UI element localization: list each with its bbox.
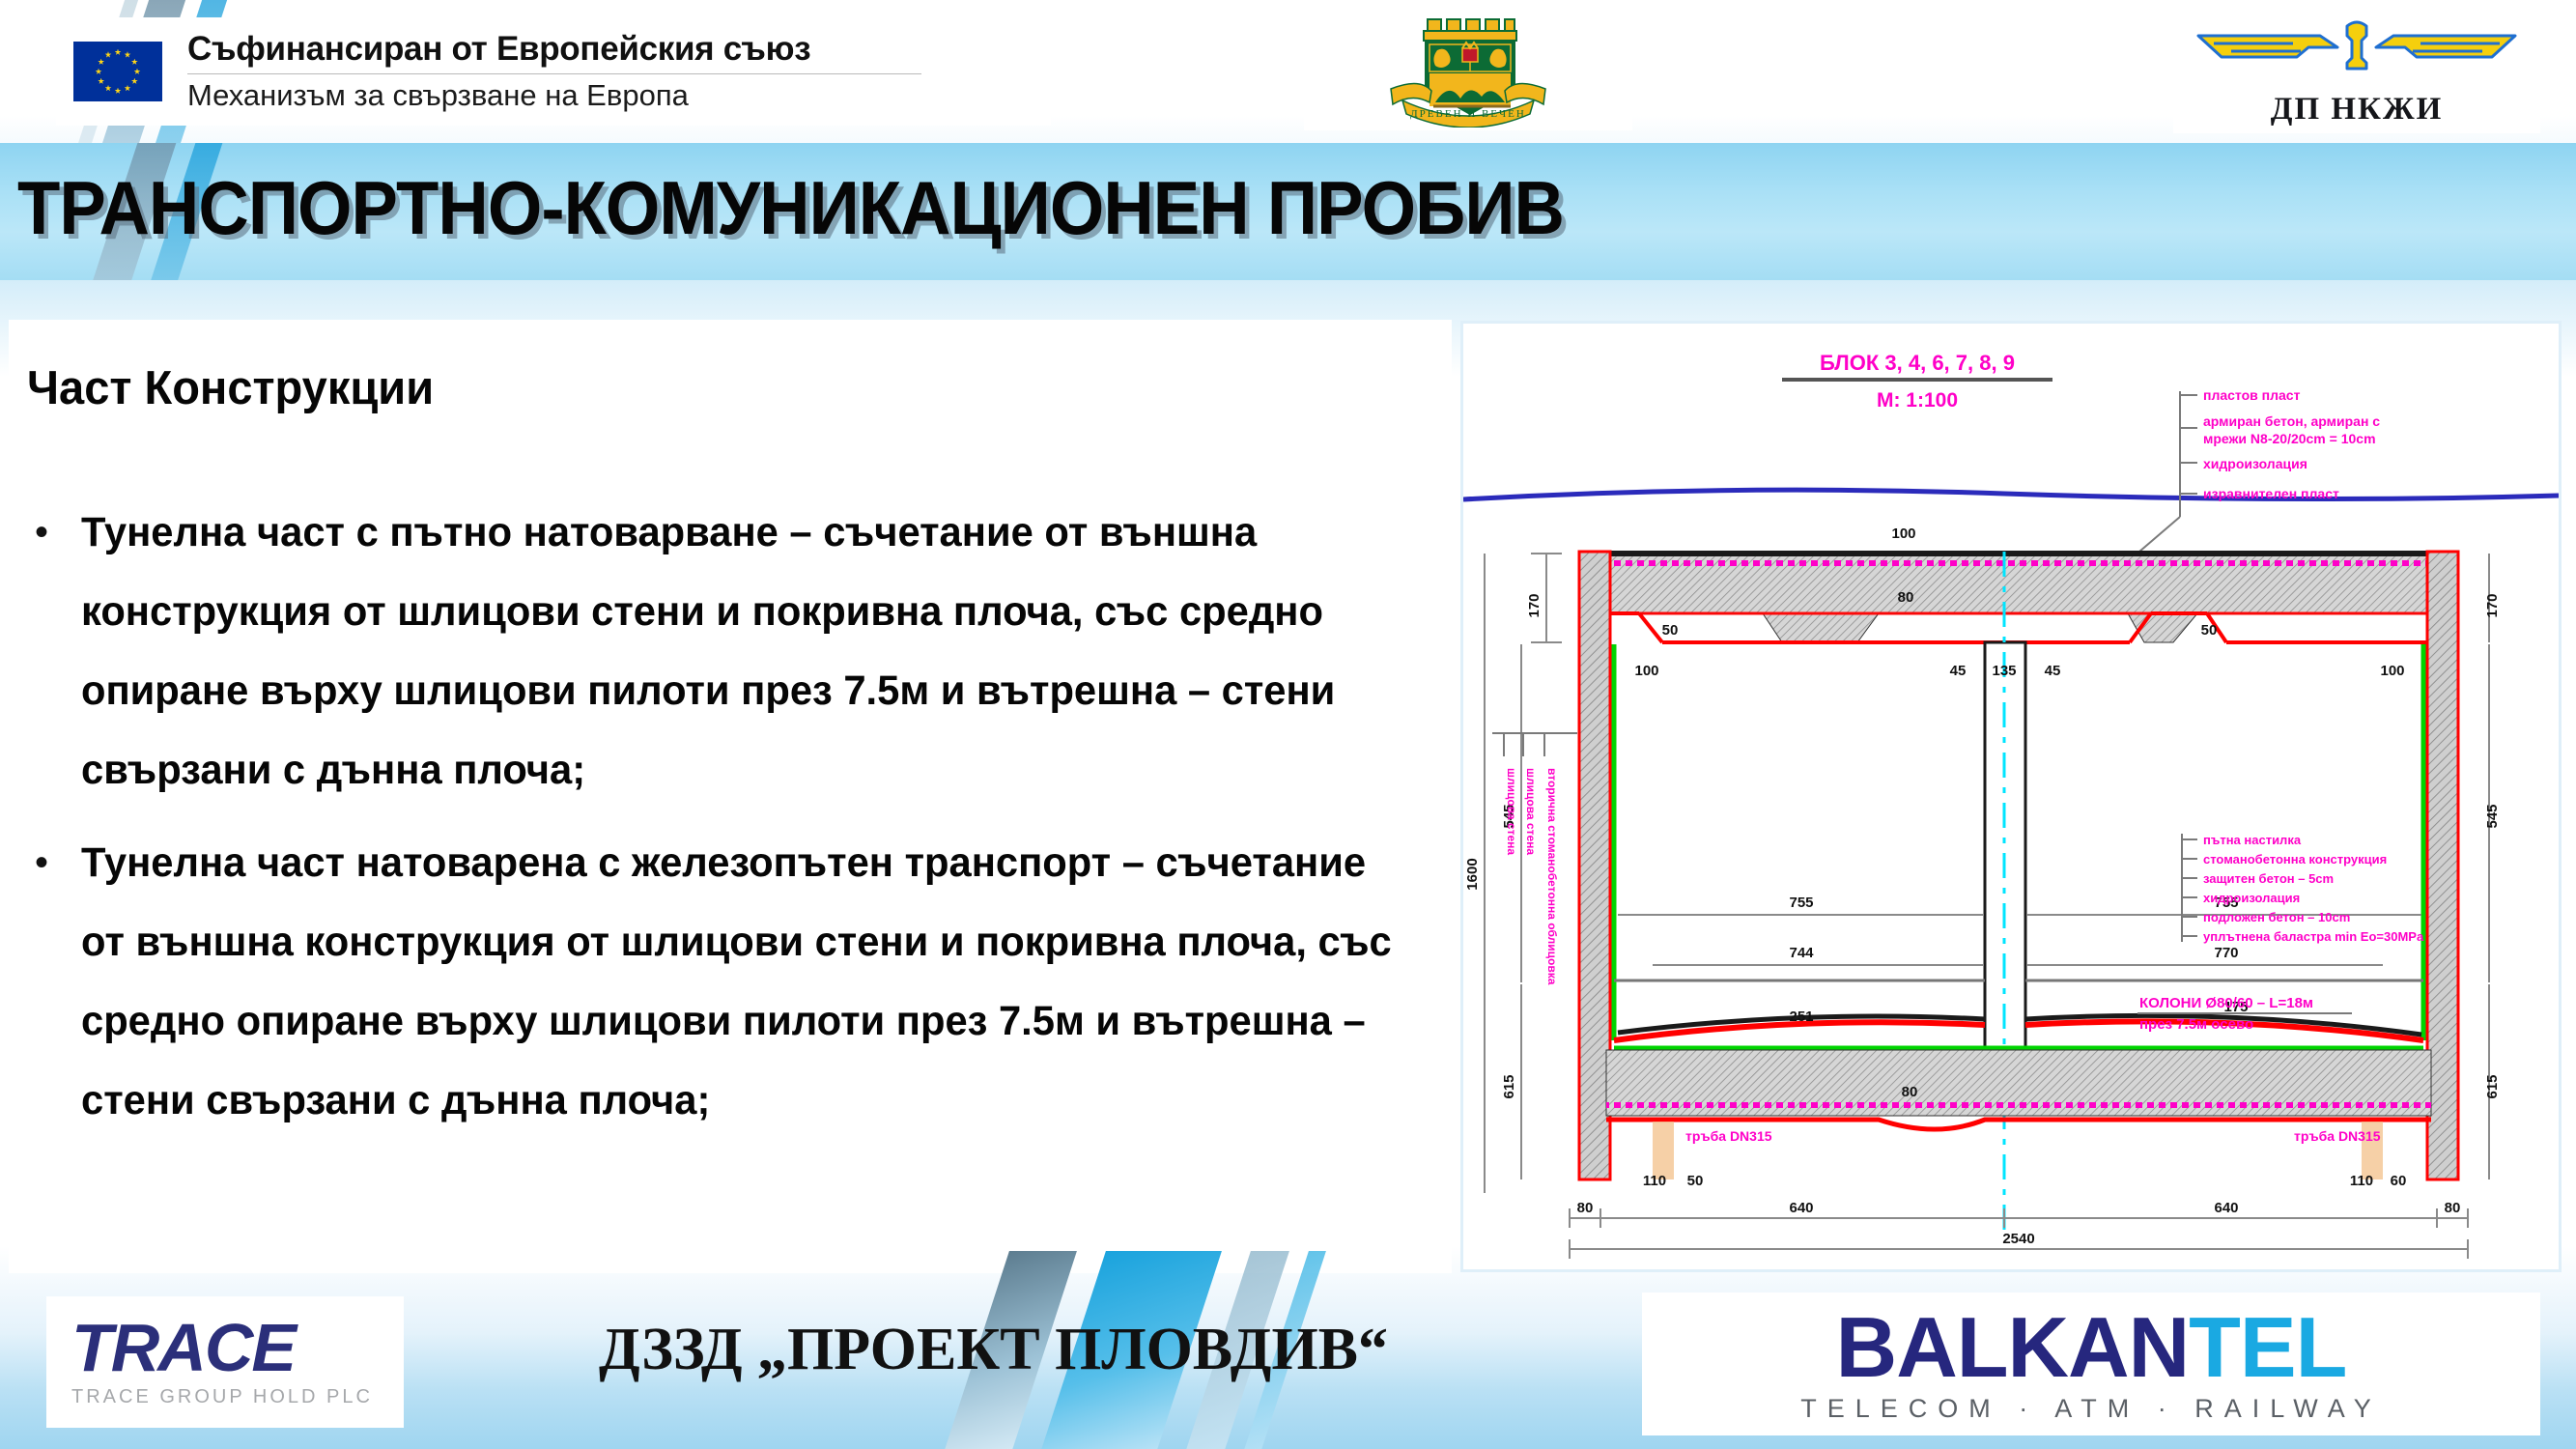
- section-heading: Част Конструкции: [27, 361, 434, 415]
- drawing-title-group: БЛОК 3, 4, 6, 7, 8, 9 М: 1:100: [1782, 351, 2052, 412]
- note-top-1: армиран бетон, армиран с: [2203, 413, 2380, 429]
- dim-pier-off-right: 45: [2045, 663, 2061, 679]
- eu-line-2: Механизъм за свързване на Европа: [187, 78, 921, 113]
- eu-star-icon: [125, 85, 131, 92]
- eu-funding-logo: Съфинансиран от Европейския съюз Механиз…: [56, 17, 1051, 126]
- diaphragm-wall-left: [1579, 552, 1610, 1179]
- dim-slab-thk-b: 100: [1891, 526, 1915, 542]
- bullet-marker-icon: •: [27, 823, 81, 902]
- bullet-marker-icon: •: [27, 493, 81, 572]
- page-title: ТРАНСПОРТНО-КОМУНИКАЦИОНЕН ПРОБИВ: [17, 164, 1564, 252]
- dim-lower-right-h: 615: [2484, 1074, 2501, 1098]
- eu-star-icon: [98, 78, 104, 85]
- footer-logo-band: TRACE TRACE GROUP HOLD PLC ДЗЗД „ПРОЕКТ …: [0, 1285, 2576, 1449]
- drawing-notes-bottom: пътна настилка стоманобетонна конструкци…: [2182, 833, 2424, 944]
- balkantel-wordmark: BALKANTEL: [1836, 1305, 2347, 1390]
- eu-star-icon: [125, 51, 131, 58]
- dim-pier-off-left: 45: [1950, 663, 1967, 679]
- dim-top-right-h: 170: [2484, 593, 2501, 617]
- dimension-lines: 170 545 615 1600 170 545 615: [1464, 526, 2501, 1259]
- note-bottom-2: защитен бетон – 5cm: [2203, 871, 2334, 886]
- dim-edge-left: 80: [1577, 1200, 1594, 1216]
- dim-bay-right: 640: [2214, 1200, 2238, 1216]
- dim-deck-left: 251: [1789, 1009, 1813, 1025]
- balkantel-tagline: TELECOM · ATM · RAILWAY: [1800, 1394, 2382, 1424]
- eu-star-icon: [115, 88, 122, 95]
- dim-pier-w: 135: [1992, 663, 2016, 679]
- nkzhi-label: ДП НКЖИ: [2271, 92, 2444, 128]
- header-logo-band: Съфинансиран от Европейския съюз Механиз…: [0, 0, 2576, 147]
- drawing-title: БЛОК 3, 4, 6, 7, 8, 9: [1820, 351, 2015, 375]
- dim-total-depth: 1600: [1464, 858, 1481, 890]
- dim-small-a: 50: [1687, 1173, 1704, 1189]
- balkantel-word-part-2: TEL: [2189, 1299, 2346, 1395]
- eu-divider: [187, 73, 921, 74]
- content-panel: Част Конструкции • Тунелна част с пътно …: [10, 321, 1451, 1272]
- balkantel-word-part-1: BALKAN: [1836, 1299, 2190, 1395]
- pipe-label-left: тръба DN315: [1685, 1128, 1772, 1144]
- eu-star-icon: [105, 85, 112, 92]
- plovdiv-coat-of-arms: ДРЕВЕН И ВЕЧЕН: [1304, 10, 1632, 130]
- dim-slab-thk-a: 80: [1898, 589, 1914, 606]
- roof-soffit-line: [1610, 613, 2427, 642]
- dim-base-right: 110: [2350, 1173, 2373, 1189]
- note-bottom-5: уплътнена баластра min Eo=30MPa: [2203, 929, 2424, 944]
- note-bottom-3: хидроизолация: [2203, 891, 2300, 905]
- eu-star-icon: [115, 49, 122, 56]
- bullet-text: Тунелна част натоварена с железопътен тр…: [81, 823, 1397, 1140]
- coat-of-arms-motto: ДРЕВЕН И ВЕЧЕН: [1410, 108, 1526, 120]
- nkzhi-logo: ДП НКЖИ: [2173, 8, 2540, 133]
- bullet-list: • Тунелна част с пътно натоварване – съч…: [27, 493, 1437, 1153]
- dim-small-b: 60: [2391, 1173, 2407, 1189]
- winged-rail-icon: [2193, 14, 2521, 90]
- note-bottom-0: пътна настилка: [2203, 833, 2302, 847]
- dim-clear-left: 755: [1789, 895, 1813, 911]
- dim-haunch-left: 50: [1662, 622, 1679, 639]
- dim-overall-width: 2540: [2002, 1231, 2034, 1247]
- left-note-0: шлицова стена: [1505, 768, 1518, 855]
- dim-col-left: 100: [1634, 663, 1658, 679]
- title-banner: ТРАНСПОРТНО-КОМУНИКАЦИОНЕН ПРОБИВ: [0, 143, 2576, 280]
- terrain-line: [1463, 490, 2559, 499]
- trace-tagline: TRACE GROUP HOLD PLC: [71, 1386, 404, 1408]
- eu-star-icon: [131, 78, 138, 85]
- dim-lower-left-h: 615: [1501, 1074, 1517, 1098]
- trace-wordmark: TRACE: [71, 1316, 404, 1380]
- list-item: • Тунелна част с пътно натоварване – съч…: [27, 493, 1437, 810]
- left-note-2: вторична стоманобетонна облицовка: [1545, 768, 1559, 985]
- waterproofing-layer-top: [1606, 560, 2431, 566]
- coat-of-arms-icon: ДРЕВЕН И ВЕЧЕН: [1381, 14, 1555, 128]
- dim-small-d: 80: [1902, 1084, 1918, 1100]
- eu-star-icon: [98, 59, 104, 66]
- left-note-1: шлицова стена: [1524, 768, 1538, 855]
- eu-star-icon: [96, 69, 102, 75]
- eu-star-icon: [134, 69, 141, 75]
- pile-note-line-1: КОЛОНИ Ø80/60 – L=18м: [2139, 995, 2313, 1011]
- dim-col-right: 100: [2380, 663, 2404, 679]
- pipe-label-right: тръба DN315: [2294, 1128, 2381, 1144]
- eu-line-1: Съфинансиран от Европейския съюз: [187, 30, 921, 69]
- trace-logo: TRACE TRACE GROUP HOLD PLC: [46, 1296, 404, 1428]
- balkantel-logo: BALKANTEL TELECOM · ATM · RAILWAY: [1642, 1293, 2540, 1435]
- dim-base-left: 110: [1643, 1173, 1666, 1189]
- note-bottom-4: подложен бетон – 10cm: [2203, 910, 2350, 924]
- dim-bay-left: 640: [1789, 1200, 1813, 1216]
- dim-inner-left: 744: [1789, 945, 1814, 961]
- bullet-text: Тунелна част с пътно натоварване – съчет…: [81, 493, 1397, 810]
- eu-flag-icon: [73, 42, 162, 101]
- dim-top-left-h: 170: [1526, 593, 1543, 617]
- dim-inner-right: 770: [2214, 945, 2238, 961]
- pile-note-line-2: през 7.5м осево: [2139, 1016, 2253, 1033]
- tunnel-cross-section-drawing: БЛОК 3, 4, 6, 7, 8, 9 М: 1:100 пластов п…: [1463, 324, 2559, 1269]
- note-bottom-1: стоманобетонна конструкция: [2203, 852, 2387, 867]
- dim-edge-right: 80: [2445, 1200, 2461, 1216]
- eu-funding-text: Съфинансиран от Европейския съюз Механиз…: [187, 30, 921, 113]
- eu-star-icon: [131, 59, 138, 66]
- consortium-name: ДЗЗД „ПРОЕКТ ПЛОВДИВ“: [599, 1316, 1388, 1384]
- note-top-2: мрежи N8-20/20cm = 10cm: [2203, 431, 2376, 446]
- dim-haunch-right: 50: [2201, 622, 2218, 639]
- slide: Съфинансиран от Европейския съюз Механиз…: [0, 0, 2576, 1449]
- drawing-panel: БЛОК 3, 4, 6, 7, 8, 9 М: 1:100 пластов п…: [1460, 321, 2562, 1272]
- note-top-0: пластов пласт: [2203, 387, 2301, 403]
- drawing-notes-top: пластов пласт армиран бетон, армиран с м…: [2139, 387, 2380, 552]
- dim-mid-right-h: 545: [2484, 804, 2501, 828]
- list-item: • Тунелна част натоварена с железопътен …: [27, 823, 1437, 1140]
- note-top-4: изравнителен пласт: [2203, 486, 2339, 501]
- eu-star-icon: [105, 51, 112, 58]
- drawing-scale: М: 1:100: [1877, 389, 1958, 412]
- diaphragm-wall-right: [2427, 552, 2458, 1179]
- note-top-3: хидроизолация: [2203, 456, 2307, 471]
- waterproofing-layer-bottom: [1606, 1102, 2431, 1108]
